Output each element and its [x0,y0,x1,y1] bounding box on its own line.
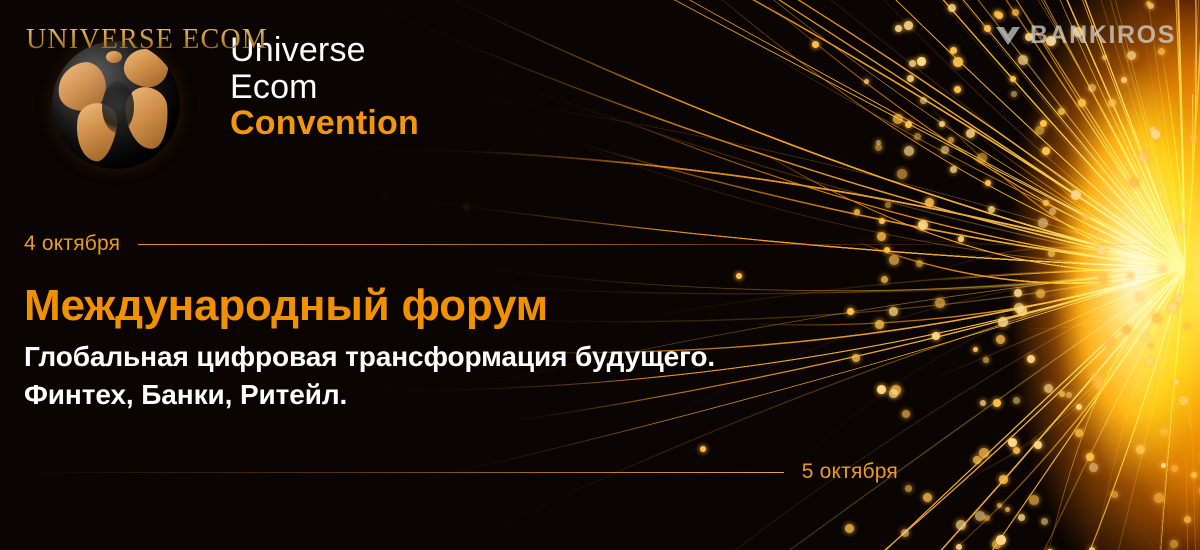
particle-dot [992,540,1001,549]
particle-dot [925,198,934,207]
particle-dot [1075,429,1083,437]
particle-dot [382,193,388,199]
particle-dot [1091,372,1101,382]
particle-dot [897,169,907,179]
particle-dot [864,79,869,84]
particle-dot [1121,77,1127,83]
particle-dot [917,57,926,66]
particle-dot [463,204,469,210]
particle-dot [885,202,891,208]
particle-dot [984,515,990,521]
particle-dot [901,529,909,537]
particle-dot [1013,447,1020,454]
globe-continent-africa [124,86,170,151]
particle-dot [1136,293,1143,300]
particle-dot [1012,9,1019,16]
particle-dot [1034,441,1042,449]
event-banner: UNIVERSE ECOM Universe Ecom Convention B… [0,0,1200,550]
particle-dot [1154,493,1164,503]
particle-dot [1029,495,1039,505]
brand-lockup: UNIVERSE ECOM Universe Ecom Convention [14,8,474,183]
particle-dot [950,166,957,173]
particle-dot [1083,215,1089,221]
particle-dot [904,146,914,156]
particle-dot [1044,384,1053,393]
particle-dot [881,276,888,283]
particle-dot [1150,127,1156,133]
particle-dot [1174,380,1179,385]
particle-dot [1035,126,1044,135]
particle-dot [1146,358,1153,365]
particle-dot [980,400,986,406]
particle-dot [950,47,957,54]
particle-dot [979,448,989,458]
particle-dot [996,335,1005,344]
particle-dot [1088,84,1096,92]
particle-dot [956,520,966,530]
particle-dot [1102,55,1107,60]
particle-dot [902,410,910,418]
particle-dot [889,255,899,265]
particle-dot [845,524,854,533]
subtitle-line-1: Глобальная цифровая трансформация будуще… [24,338,715,377]
particle-dot [1018,55,1028,65]
particle-dot [994,11,1000,17]
particle-dot [1059,391,1065,397]
start-date-row: 4 октября [0,232,1200,256]
particle-dot [812,41,819,48]
particle-dot [988,206,995,213]
particle-dot [983,357,989,363]
particle-dot [1005,507,1010,512]
particle-dot [923,493,932,502]
particle-dot [948,4,956,12]
globe-shadow [102,81,134,133]
globe-icon [52,41,180,169]
particle-dot [1179,396,1188,405]
particle-dot [1042,147,1050,155]
subtitle-block: Глобальная цифровая трансформация будуще… [24,338,715,415]
particle-dot [700,446,706,452]
particle-dot [889,307,898,316]
subtitle-line-2: Финтех, Банки, Ритейл. [24,376,715,415]
particle-dot [975,511,985,521]
brand-line-ecom: Ecom [230,69,419,106]
particle-dot [1148,3,1154,9]
particle-dot [904,21,913,30]
particle-dot [1160,266,1166,272]
bankiros-logo[interactable]: BANKIROS [995,22,1176,48]
particle-dot [918,220,928,230]
particle-dot [1111,491,1118,498]
particle-dot [966,129,975,138]
particle-dot [1177,223,1185,231]
particle-dot [1095,380,1104,389]
particle-dot [1139,153,1148,162]
particle-dot [939,121,945,127]
particle-dot [1027,355,1035,363]
particle-dot [1106,336,1115,345]
particle-dot [1190,135,1197,142]
particle-dot [953,57,963,67]
particle-dot [1036,289,1045,298]
particle-dot [1013,397,1020,404]
particle-dot [1014,303,1024,313]
particle-dot [977,153,987,163]
particle-dot [914,133,921,140]
particle-dot [1122,325,1131,334]
brand-line-convention: Convention [230,105,419,142]
particle-dot [1160,428,1168,436]
particle-dot [1146,1,1151,6]
particle-dot [916,260,923,267]
particle-dot [905,121,912,128]
particle-dot [1184,323,1190,329]
particle-dot [948,137,954,143]
particle-dot [1148,343,1153,348]
particle-dot [1014,289,1022,297]
particle-dot [1038,218,1048,228]
page-title: Международный форум [24,282,715,330]
particle-dot [919,223,925,229]
globe-continent-south-america [72,100,120,163]
particle-dot [920,97,927,104]
end-date-row: 5 октября [0,460,1200,484]
bankiros-chevron-icon [995,22,1021,48]
particle-dot [875,320,884,329]
particle-dot [1040,120,1047,127]
particle-dot [1017,306,1027,316]
particle-dot [852,354,860,362]
particle-dot [985,180,991,186]
particle-dot [1168,303,1177,312]
particle-dot [1128,273,1133,278]
particle-dot [1136,445,1145,454]
particle-dot [1010,76,1016,82]
particle-dot [1008,438,1017,447]
particle-dot [893,114,903,124]
particle-dot [1151,130,1160,139]
particle-dot [1127,51,1136,60]
particle-dot [1175,296,1182,303]
particle-dot [1108,99,1116,107]
particle-dot [1170,540,1178,548]
particle-dot [1049,208,1056,215]
particle-dot [1158,48,1165,55]
end-date-label: 5 октября [802,460,898,484]
particle-dot [993,399,1001,407]
particle-dot [889,389,898,398]
universe-ecom-wordmark: UNIVERSE ECOM [26,24,268,56]
particle-dot [1041,518,1048,525]
particle-dot [1043,200,1049,206]
particle-dot [941,146,949,154]
start-date-label: 4 октября [24,232,120,256]
start-date-rule [138,244,1200,245]
globe-continent-north-america [54,59,110,115]
particle-dot [847,308,854,315]
particle-dot [996,12,1003,19]
particle-dot [956,544,962,550]
particle-dot [1152,313,1162,323]
particle-dot [1011,91,1017,97]
particle-dot [1078,99,1086,107]
particle-dot [875,144,882,151]
particle-dot [736,273,742,279]
particle-dot [1018,514,1025,521]
particle-dot [1142,151,1150,159]
particle-dot [891,385,901,395]
particle-dot [1066,392,1072,398]
particle-dot [1076,404,1082,410]
particle-dot [907,75,914,82]
particle-dot [909,60,916,67]
particle-dot [984,25,991,32]
particle-dot [854,209,860,215]
particle-dot [1129,177,1139,187]
particle-dot [1098,274,1108,284]
particle-dot [895,25,902,32]
particle-dot [1105,342,1110,347]
headline-block: Международный форум Глобальная цифровая … [24,282,715,415]
particle-dot [1071,190,1081,200]
particle-dot [905,485,912,492]
particle-dot [879,218,885,224]
particle-dot [935,298,945,308]
particle-dot [1142,333,1148,339]
particle-dot [997,503,1002,508]
particle-dot [973,347,978,352]
end-date-rule [30,472,784,473]
particle-dot [877,385,886,394]
particle-dot [1184,516,1191,523]
particle-dot [998,317,1008,327]
particle-dot [932,332,940,340]
bankiros-wordmark: BANKIROS [1030,23,1176,48]
particle-dot [954,86,961,93]
particle-dot [1058,108,1065,115]
particle-dot [996,535,1006,545]
particle-dot [876,140,881,145]
